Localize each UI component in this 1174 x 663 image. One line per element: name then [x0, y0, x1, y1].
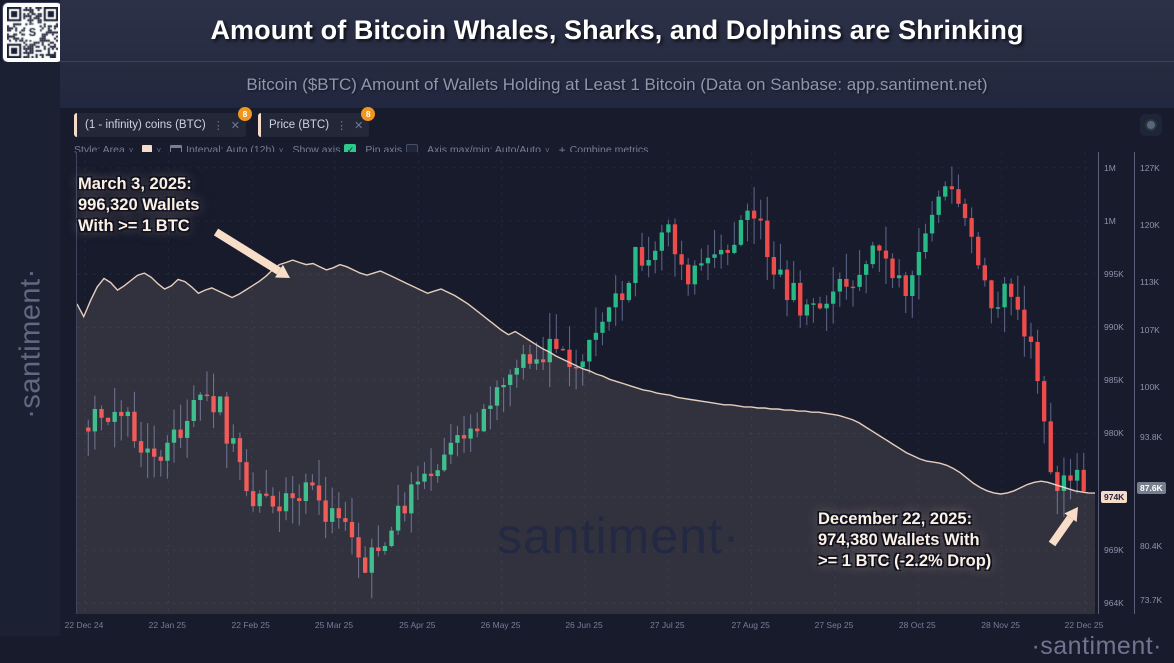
date-axis-tick: 22 Jan 25: [149, 620, 186, 630]
chart-toolbar: (1 - infinity) coins (BTC) ⋮ ✕ 8 Price (…: [60, 108, 1174, 158]
close-icon[interactable]: ✕: [354, 119, 363, 132]
price-axis-tick: 80.4K: [1140, 541, 1162, 551]
date-axis-tick: 26 May 25: [481, 620, 521, 630]
date-axis-tick: 22 Feb 25: [232, 620, 270, 630]
wallets-axis-tick: 980K: [1104, 428, 1124, 438]
metric-chips: (1 - infinity) coins (BTC) ⋮ ✕ 8 Price (…: [74, 113, 369, 137]
date-axis: 22 Dec 2422 Jan 2522 Feb 2525 Mar 2525 A…: [76, 614, 1094, 636]
subheader-bar: Bitcoin ($BTC) Amount of Wallets Holding…: [60, 62, 1174, 108]
page-subtitle: Bitcoin ($BTC) Amount of Wallets Holding…: [246, 75, 987, 95]
wallets-axis-tick: 969K: [1104, 545, 1124, 555]
metric-chip-coins[interactable]: (1 - infinity) coins (BTC) ⋮ ✕ 8: [74, 113, 246, 137]
price-axis-tick: 127K: [1140, 163, 1160, 173]
date-axis-tick: 22 Dec 24: [65, 620, 104, 630]
metric-chip-price-label: Price (BTC): [269, 119, 329, 131]
metric-chip-coins-badge: 8: [238, 107, 252, 121]
qr-code-canvas: [7, 7, 58, 58]
date-axis-tick: 27 Sep 25: [815, 620, 854, 630]
screenshot-root: Amount of Bitcoin Whales, Sharks, and Do…: [0, 0, 1174, 663]
metric-chip-price[interactable]: Price (BTC) ⋮ ✕ 8: [258, 113, 369, 137]
bottom-strip: ·santiment·: [0, 636, 1174, 663]
settings-dot-icon[interactable]: [1140, 114, 1162, 136]
price-axis-tick: 100K: [1140, 382, 1160, 392]
close-icon[interactable]: ✕: [231, 119, 240, 132]
annotation-march: March 3, 2025: 996,320 Wallets With >= 1…: [78, 174, 199, 237]
wallets-axis[interactable]: 1M1M995K990K985K980K974K969K964K: [1098, 152, 1134, 614]
rail-watermark: ·santiment·: [15, 229, 48, 459]
wallets-axis-tick: 985K: [1104, 375, 1124, 385]
annotation-december: December 22, 2025: 974,380 Wallets With …: [818, 509, 991, 572]
date-axis-tick: 26 Jun 25: [565, 620, 602, 630]
date-axis-tick: 27 Jul 25: [650, 620, 685, 630]
kebab-menu-icon[interactable]: ⋮: [213, 119, 224, 132]
wallets-axis-current-value-badge: 974K: [1101, 491, 1127, 503]
wallets-axis-tick: 1M: [1104, 163, 1116, 173]
date-axis-tick: 28 Nov 25: [981, 620, 1020, 630]
wallets-axis-tick: 1M: [1104, 216, 1116, 226]
wallets-axis-tick: 964K: [1104, 598, 1124, 608]
price-axis-tick: 120K: [1140, 220, 1160, 230]
price-axis-current-value-badge: 87.6K: [1137, 482, 1166, 494]
date-axis-tick: 28 Oct 25: [899, 620, 936, 630]
page-title: Amount of Bitcoin Whales, Sharks, and Do…: [210, 15, 1023, 46]
price-axis-tick: 93.8K: [1140, 432, 1162, 442]
header-bar: Amount of Bitcoin Whales, Sharks, and Do…: [60, 0, 1174, 62]
wallets-axis-tick: 990K: [1104, 322, 1124, 332]
qr-code-icon[interactable]: [3, 3, 62, 62]
price-axis[interactable]: 127K120K113K107K100K93.8K87.6K80.4K73.7K: [1134, 152, 1170, 614]
date-axis-tick: 27 Aug 25: [732, 620, 770, 630]
price-axis-tick: 113K: [1140, 277, 1159, 287]
date-axis-tick: 22 Dec 25: [1065, 620, 1104, 630]
wallets-axis-tick: 995K: [1104, 269, 1124, 279]
bottom-brand: ·santiment·: [1031, 632, 1162, 661]
date-axis-tick: 25 Apr 25: [399, 620, 435, 630]
metric-chip-coins-label: (1 - infinity) coins (BTC): [85, 119, 206, 131]
kebab-menu-icon[interactable]: ⋮: [336, 119, 347, 132]
metric-chip-price-badge: 8: [361, 107, 375, 121]
left-rail: ·santiment·: [0, 62, 60, 663]
settings-dot-glyph: [1147, 121, 1155, 129]
price-axis-tick: 73.7K: [1140, 595, 1162, 605]
date-axis-tick: 25 Mar 25: [315, 620, 353, 630]
price-axis-tick: 107K: [1140, 325, 1160, 335]
